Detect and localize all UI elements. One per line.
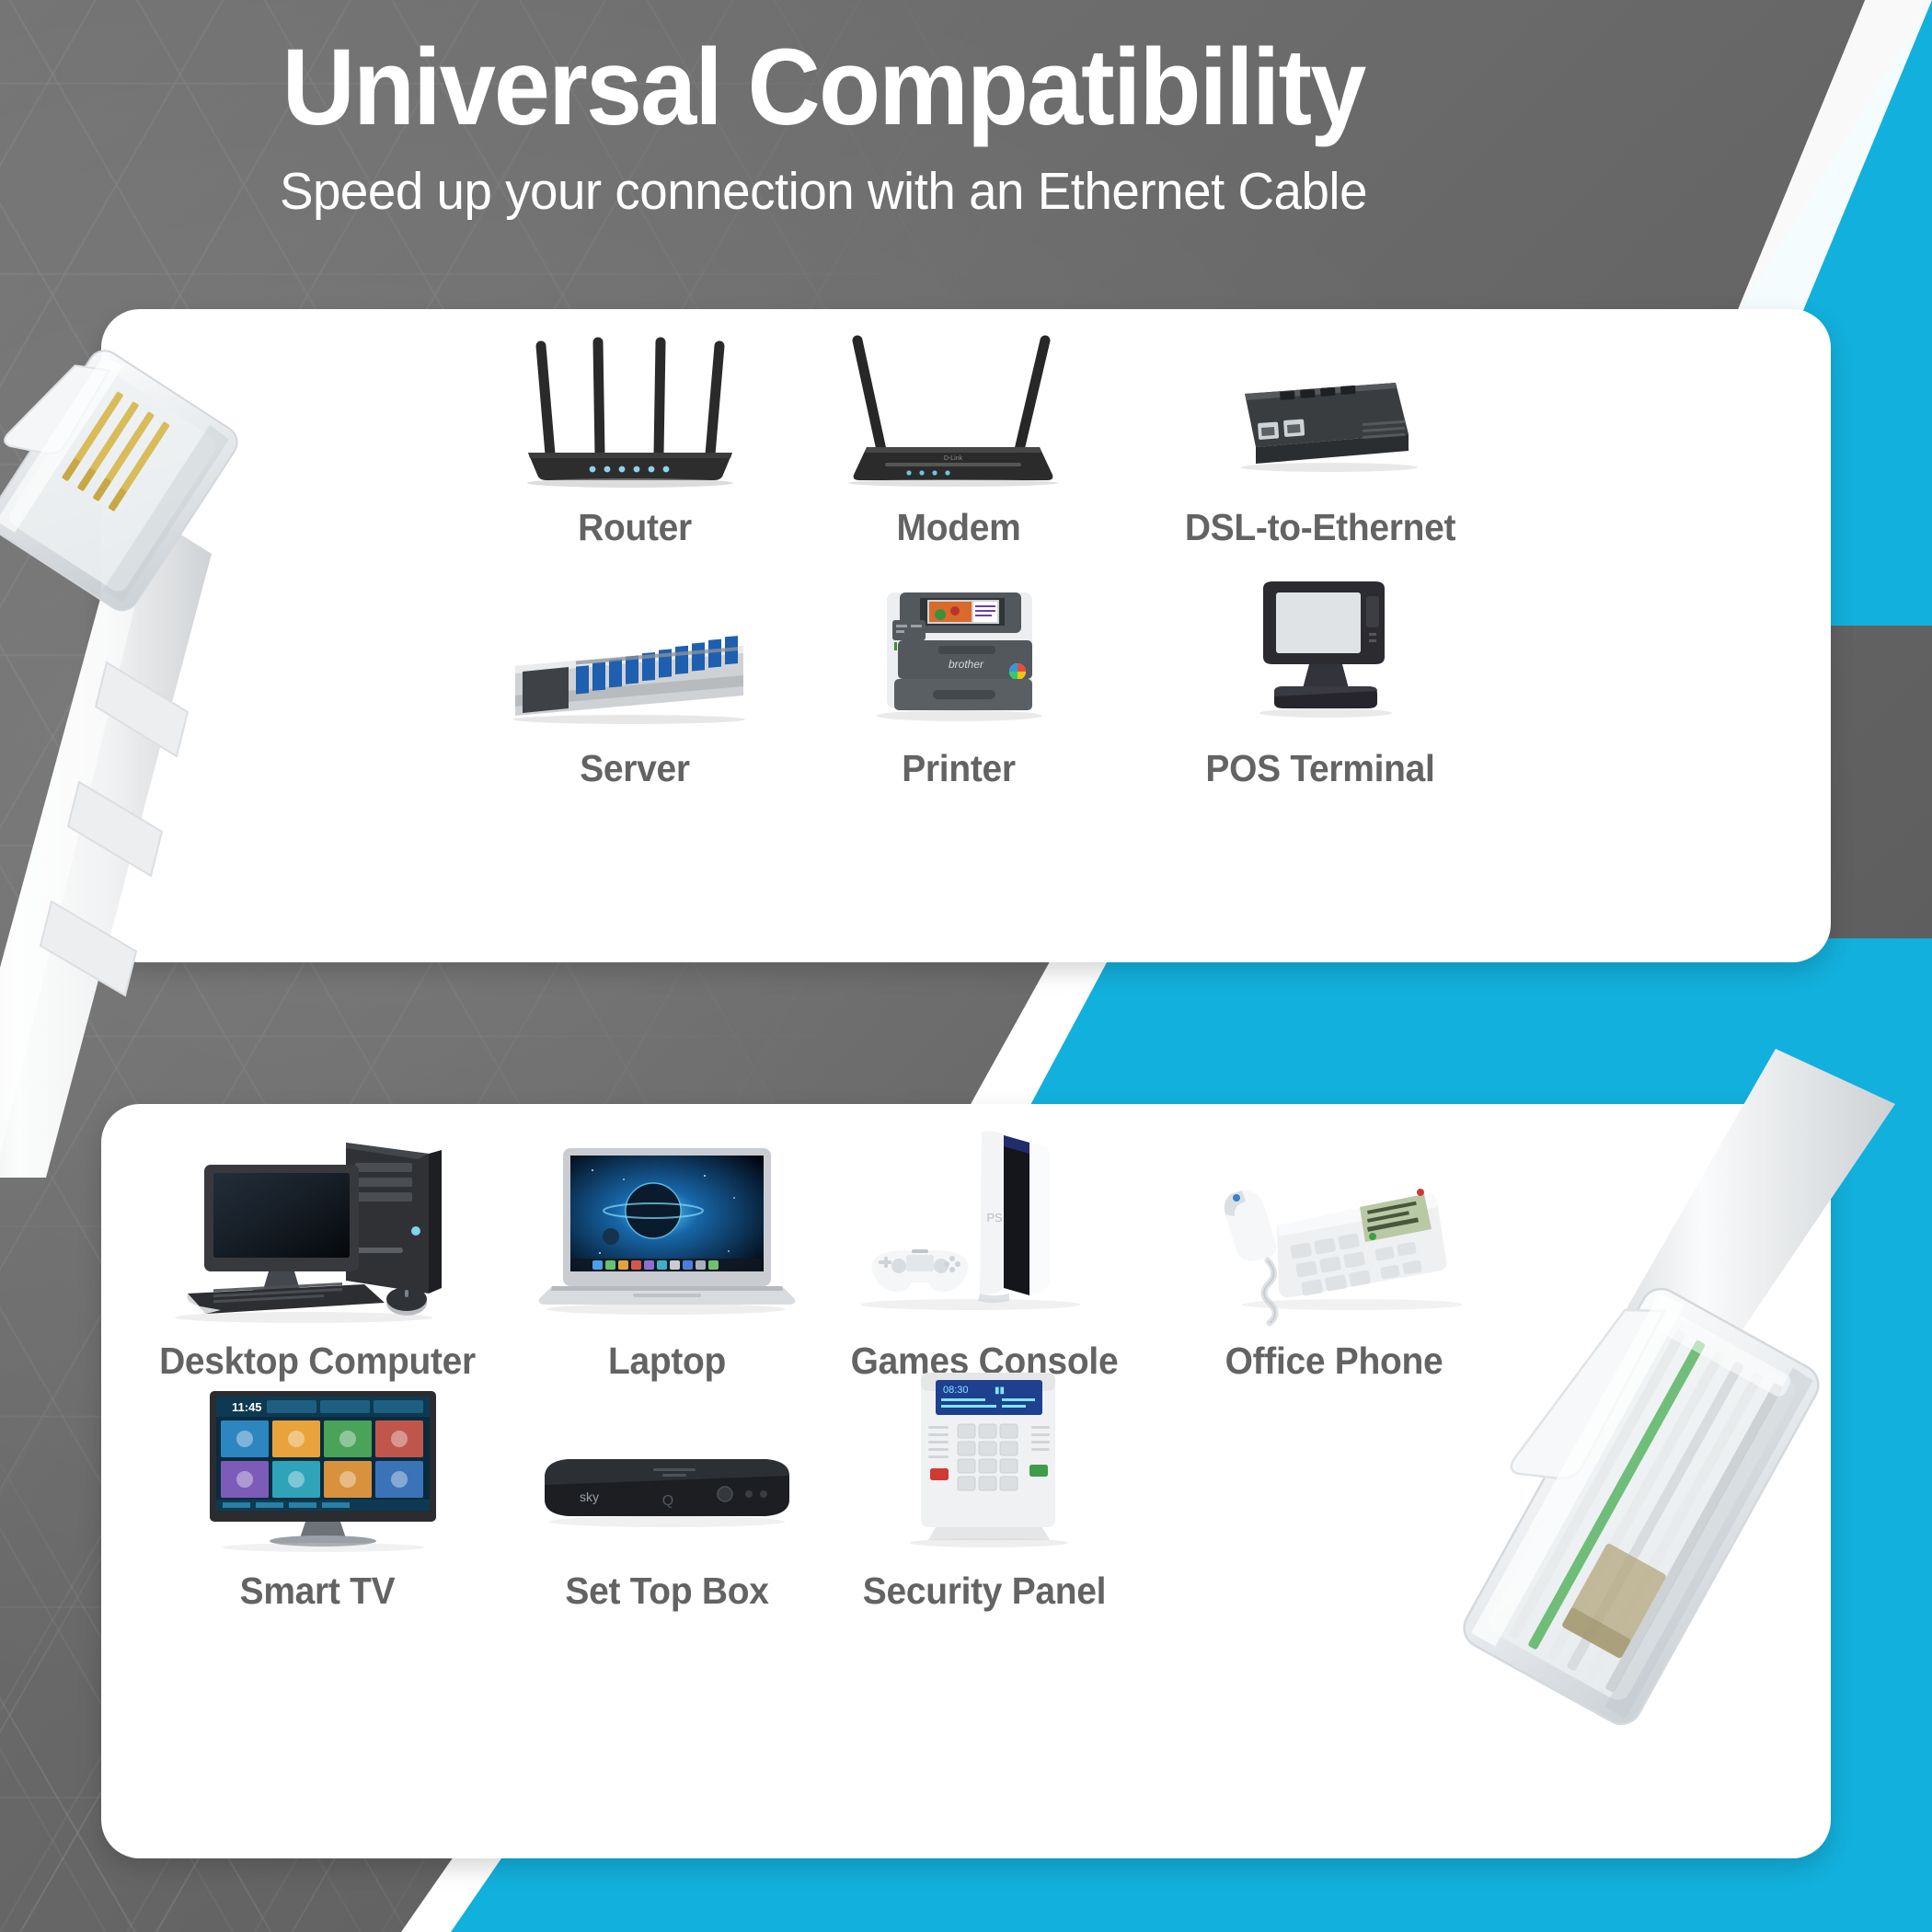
device-item-router[interactable]: Router (488, 335, 782, 549)
device-item-games-console[interactable]: PS Games Console (828, 1122, 1141, 1383)
dsl-modem-icon: D-Link (811, 335, 1106, 491)
device-item-dsl-to-ethernet[interactable]: DSL-to-Ethernet (1099, 335, 1541, 549)
device-item-server[interactable]: Server (488, 576, 782, 790)
device-label: Router (495, 506, 775, 549)
device-label: Smart TV (130, 1570, 506, 1613)
rack-server-icon (488, 576, 782, 732)
rj45-cable-right (1380, 1049, 1895, 1932)
device-item-printer[interactable]: brother Printer (811, 569, 1106, 790)
svg-text:Q: Q (662, 1493, 673, 1509)
laser-printer-icon: brother (811, 569, 1106, 732)
svg-text:11:45: 11:45 (232, 1400, 262, 1414)
set-top-box-icon: sky Q (515, 1371, 819, 1555)
security-alarm-panel-icon: 08:30 ▮▮ (828, 1362, 1141, 1555)
device-label: Security Panel (836, 1570, 1133, 1613)
rj45-cable-left (0, 304, 368, 1178)
svg-text:08:30: 08:30 (943, 1385, 969, 1396)
smart-tv-icon: 11:45 (120, 1371, 515, 1555)
games-console-icon: PS (828, 1122, 1141, 1325)
device-label: Printer (819, 747, 1098, 790)
device-item-laptop[interactable]: Laptop (515, 1122, 819, 1383)
device-label: Server (495, 747, 775, 790)
device-label: Set Top Box (523, 1570, 811, 1613)
device-item-security-panel[interactable]: 08:30 ▮▮ (828, 1362, 1141, 1613)
device-item-modem[interactable]: D-Link Modem (811, 335, 1106, 549)
device-label: POS Terminal (1110, 747, 1530, 790)
svg-text:sky: sky (580, 1489, 599, 1504)
pos-terminal-icon (1099, 569, 1541, 732)
svg-text:brother: brother (949, 658, 984, 671)
svg-text:▮▮: ▮▮ (995, 1386, 1005, 1396)
laptop-icon (515, 1122, 819, 1325)
media-converter-icon (1099, 335, 1541, 491)
header: Universal Compatibility Speed up your co… (0, 0, 1647, 218)
wifi-router-icon (488, 335, 782, 491)
device-item-pos-terminal[interactable]: POS Terminal (1099, 569, 1541, 790)
device-label: DSL-to-Ethernet (1110, 506, 1530, 549)
device-item-set-top-box[interactable]: sky Q Set Top Box (515, 1371, 819, 1613)
page-subtitle: Speed up your connection with an Etherne… (33, 142, 1614, 218)
svg-text:D-Link: D-Link (944, 455, 963, 462)
device-label: Modem (819, 506, 1098, 549)
svg-text:PS: PS (986, 1211, 1003, 1225)
page-title: Universal Compatibility (58, 0, 1590, 142)
device-item-smart-tv[interactable]: 11:45 (120, 1371, 515, 1613)
